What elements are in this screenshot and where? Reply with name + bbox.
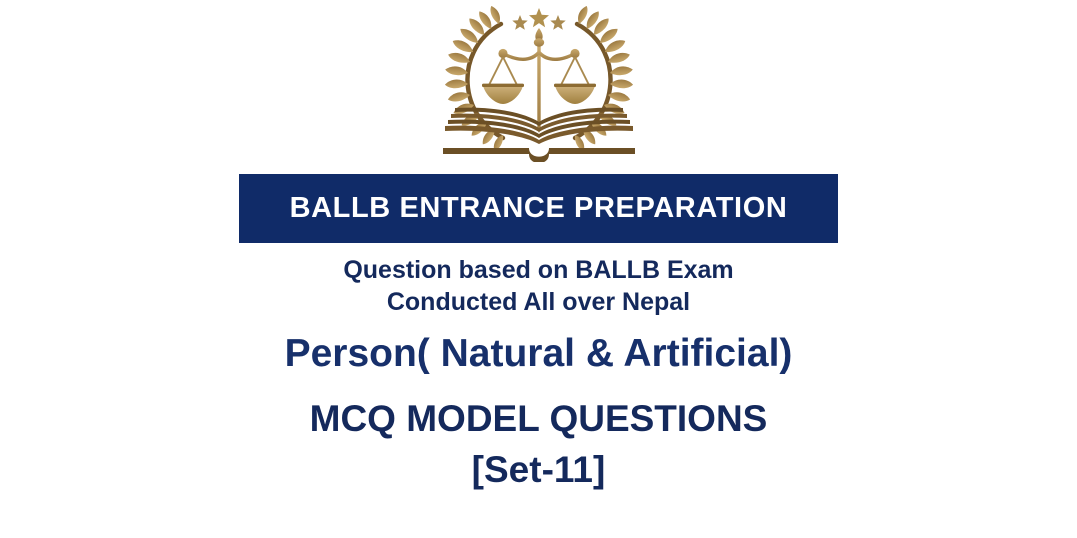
subheading-line-2: Conducted All over Nepal — [343, 287, 733, 319]
banner-title: BALLB ENTRANCE PREPARATION — [290, 194, 788, 223]
law-emblem — [439, 2, 639, 162]
topic-title: Person( Natural & Artificial) — [285, 334, 793, 375]
subheading: Question based on BALLB Exam Conducted A… — [343, 255, 733, 318]
set-number-title: [Set-11] — [472, 450, 606, 491]
slide-root: BALLB ENTRANCE PREPARATION Question base… — [0, 0, 1077, 538]
question-type-title: MCQ MODEL QUESTIONS — [310, 399, 768, 440]
star-group — [512, 8, 565, 30]
banner: BALLB ENTRANCE PREPARATION — [239, 174, 838, 243]
subheading-line-1: Question based on BALLB Exam — [343, 255, 733, 287]
scale-pan-left — [482, 57, 524, 104]
scale-pan-right — [554, 57, 596, 104]
